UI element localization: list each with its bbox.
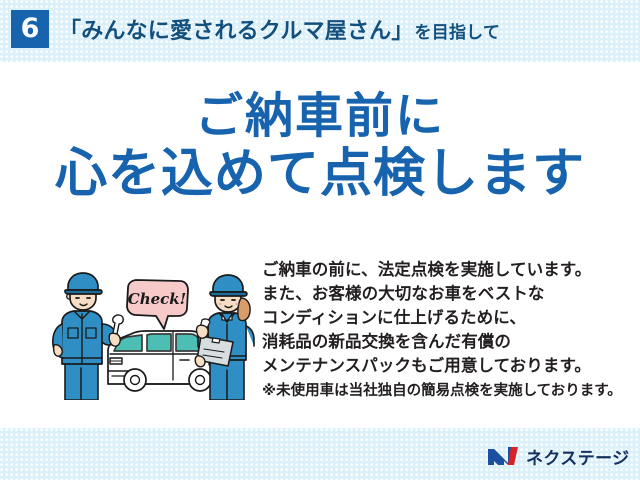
check-bubble-label: Check!: [128, 290, 187, 308]
header-title-suffix: を目指して: [414, 18, 501, 43]
headline-line-1: ご納車前に: [0, 88, 640, 144]
body-copy-line: コンディションに仕上げるために、: [262, 306, 622, 330]
headline-line-2: 心を込めて点検します: [0, 144, 640, 204]
nextage-logo: ネクステージ: [487, 444, 630, 468]
nextage-logo-mark: [487, 445, 521, 467]
body-copy-line: ご納車の前に、法定点検を実施しています。: [262, 258, 622, 282]
promo-slide: 6 「みんなに愛されるクルマ屋さん」 を目指して ご納車前に 心を込めて点検しま…: [0, 0, 640, 480]
body-copy-line: メンテナンスパックもご用意しております。: [262, 354, 622, 378]
header-title-main: 「みんなに愛されるクルマ屋さん」: [59, 13, 414, 45]
body-copy: ご納車の前に、法定点検を実施しています。 また、お客様の大切なお車をベストな コ…: [262, 258, 622, 402]
header-step-badge: 6: [11, 10, 49, 48]
mechanics-illustration: Check!: [52, 272, 257, 400]
header-title: 「みんなに愛されるクルマ屋さん」 を目指して: [59, 13, 500, 47]
body-copy-note: ※未使用車は当社独自の簡易点検を実施しております。: [262, 378, 622, 402]
body-copy-line: また、お客様の大切なお車をベストな: [262, 282, 622, 306]
headline: ご納車前に 心を込めて点検します: [0, 88, 640, 204]
body-copy-line: 消耗品の新品交換を含んだ有償の: [262, 330, 622, 354]
nextage-logo-text: ネクステージ: [521, 444, 630, 469]
